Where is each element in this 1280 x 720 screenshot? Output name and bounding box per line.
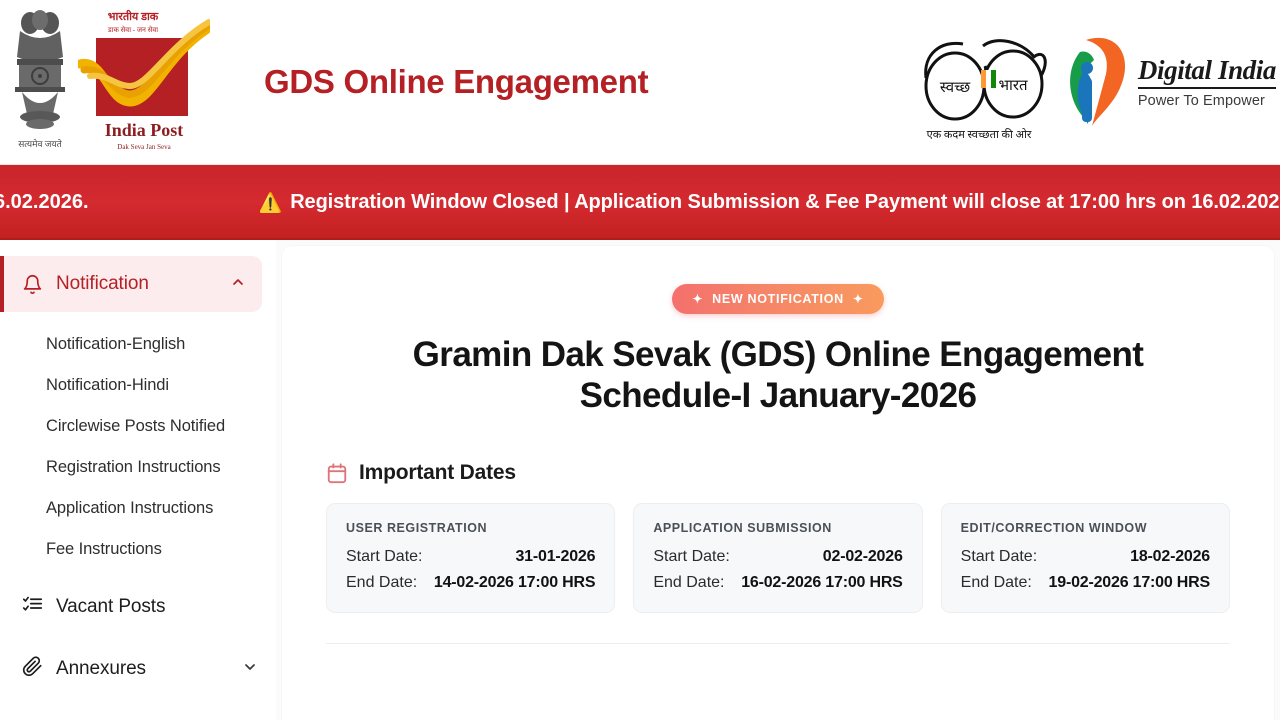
svg-text:भारत: भारत <box>998 78 1028 94</box>
svg-text:भारतीय डाक: भारतीय डाक <box>108 9 159 23</box>
sidebar-item-notification-hindi[interactable]: Notification-Hindi <box>0 365 276 406</box>
swachh-bharat-spectacles-icon: स्वच्छ भारत एक कदम स्वच्छता की ओर <box>917 18 1052 148</box>
page-title: Gramin Dak Sevak (GDS) Online Engagement… <box>326 334 1230 417</box>
sidebar-item-vacant-posts[interactable]: Vacant Posts <box>0 582 276 632</box>
start-date-label: Start Date: <box>653 548 729 566</box>
sidebar-item-vacant-posts-label: Vacant Posts <box>56 596 258 618</box>
paperclip-icon <box>22 656 43 682</box>
end-date-row: End Date: 19-02-2026 17:00 HRS <box>961 574 1210 592</box>
date-card-label: USER REGISTRATION <box>346 521 595 535</box>
end-date-value: 14-02-2026 17:00 HRS <box>434 574 595 592</box>
new-notification-badge[interactable]: ✦ NEW NOTIFICATION ✦ <box>672 284 883 314</box>
svg-text:एक कदम स्वच्छता की ओर: एक कदम स्वच्छता की ओर <box>927 128 1032 141</box>
content-card: ✦ NEW NOTIFICATION ✦ Gramin Dak Sevak (G… <box>282 246 1274 720</box>
date-card-label: EDIT/CORRECTION WINDOW <box>961 521 1210 535</box>
sparkle-icon: ✦ <box>692 292 703 306</box>
svg-text:India Post: India Post <box>105 120 184 140</box>
start-date-row: Start Date: 31-01-2026 <box>346 548 595 566</box>
date-card: USER REGISTRATION Start Date: 31-01-2026… <box>326 503 615 613</box>
svg-text:डाक सेवा - जन सेवा: डाक सेवा - जन सेवा <box>107 25 158 34</box>
date-card: APPLICATION SUBMISSION Start Date: 02-02… <box>633 503 922 613</box>
svg-text:सत्यमेव जयते: सत्यमेव जयते <box>18 138 62 149</box>
digital-india-mark-icon <box>1062 30 1134 135</box>
sidebar-subitem-list: Notification-English Notification-Hindi … <box>0 324 276 570</box>
digital-india-subtitle: Power To Empower <box>1138 94 1276 109</box>
page-body: Notification Notification-English Notifi… <box>0 240 1280 720</box>
header-right-logos: स्वच्छ भारत एक कदम स्वच्छता की ओर Digita… <box>917 0 1276 165</box>
marquee-tail-text: 6.02.2026. <box>0 191 259 214</box>
end-date-value: 16-02-2026 17:00 HRS <box>741 574 902 592</box>
svg-text:Dak Seva Jan Seva: Dak Seva Jan Seva <box>117 143 171 151</box>
chevron-up-icon[interactable] <box>230 274 246 294</box>
badge-row: ✦ NEW NOTIFICATION ✦ <box>326 284 1230 314</box>
digital-india-title: Digital India <box>1138 57 1276 89</box>
india-state-emblem-icon: सत्यमेव जयते <box>6 7 74 157</box>
start-date-label: Start Date: <box>346 548 422 566</box>
sidebar-navigation: Notification Notification-English Notifi… <box>0 240 276 720</box>
start-date-label: Start Date: <box>961 548 1037 566</box>
chevron-down-icon[interactable] <box>242 659 258 679</box>
important-dates-heading: Important Dates <box>326 461 1230 485</box>
india-post-logo: भारतीय डाक डाक सेवा - जन सेवा India Post… <box>78 6 210 158</box>
sidebar-item-registration-instructions[interactable]: Registration Instructions <box>0 447 276 488</box>
sidebar-item-fee-instructions[interactable]: Fee Instructions <box>0 529 276 570</box>
main-content-area: ✦ NEW NOTIFICATION ✦ Gramin Dak Sevak (G… <box>276 240 1280 720</box>
svg-text:स्वच्छ: स्वच्छ <box>940 80 971 96</box>
date-card: EDIT/CORRECTION WINDOW Start Date: 18-02… <box>941 503 1230 613</box>
end-date-row: End Date: 16-02-2026 17:00 HRS <box>653 574 902 592</box>
sidebar-item-notification-english[interactable]: Notification-English <box>0 324 276 365</box>
sidebar-item-circlewise-posts-notified[interactable]: Circlewise Posts Notified <box>0 406 276 447</box>
new-notification-badge-label: NEW NOTIFICATION <box>712 292 844 306</box>
announcement-marquee: 6.02.2026. ⚠️ Registration Window Closed… <box>0 191 1280 215</box>
warning-triangle-icon: ⚠️ <box>259 191 283 215</box>
page-header: सत्यमेव जयते भारतीय डाक डाक सेवा - जन से… <box>0 0 1280 165</box>
sparkle-icon: ✦ <box>853 292 864 306</box>
bell-icon <box>22 274 43 295</box>
sidebar-item-annexures-label: Annexures <box>56 658 229 680</box>
announcement-banner: 6.02.2026. ⚠️ Registration Window Closed… <box>0 165 1280 240</box>
date-card-label: APPLICATION SUBMISSION <box>653 521 902 535</box>
calendar-icon <box>326 462 348 484</box>
sidebar-item-annexures[interactable]: Annexures <box>0 644 276 694</box>
start-date-row: Start Date: 18-02-2026 <box>961 548 1210 566</box>
checklist-icon <box>22 594 43 620</box>
sidebar-group-notification-label: Notification <box>56 273 217 295</box>
end-date-label: End Date: <box>961 574 1032 592</box>
page-title-line2: January-2026 <box>760 376 977 415</box>
start-date-value: 31-01-2026 <box>515 548 595 566</box>
end-date-value: 19-02-2026 17:00 HRS <box>1049 574 1210 592</box>
start-date-value: 02-02-2026 <box>823 548 903 566</box>
announcement-message: Registration Window Closed | Application… <box>290 191 1280 214</box>
sidebar-group-notification[interactable]: Notification <box>0 256 262 312</box>
end-date-row: End Date: 14-02-2026 17:00 HRS <box>346 574 595 592</box>
sidebar-item-application-instructions[interactable]: Application Instructions <box>0 488 276 529</box>
site-title: GDS Online Engagement <box>264 63 648 101</box>
end-date-label: End Date: <box>653 574 724 592</box>
end-date-label: End Date: <box>346 574 417 592</box>
start-date-row: Start Date: 02-02-2026 <box>653 548 902 566</box>
important-dates-grid: USER REGISTRATION Start Date: 31-01-2026… <box>326 503 1230 613</box>
start-date-value: 18-02-2026 <box>1130 548 1210 566</box>
digital-india-logo: Digital India Power To Empower <box>1062 30 1276 135</box>
important-dates-title: Important Dates <box>359 461 516 485</box>
content-divider <box>326 643 1230 644</box>
header-logo-group: सत्यमेव जयते भारतीय डाक डाक सेवा - जन से… <box>0 6 648 158</box>
